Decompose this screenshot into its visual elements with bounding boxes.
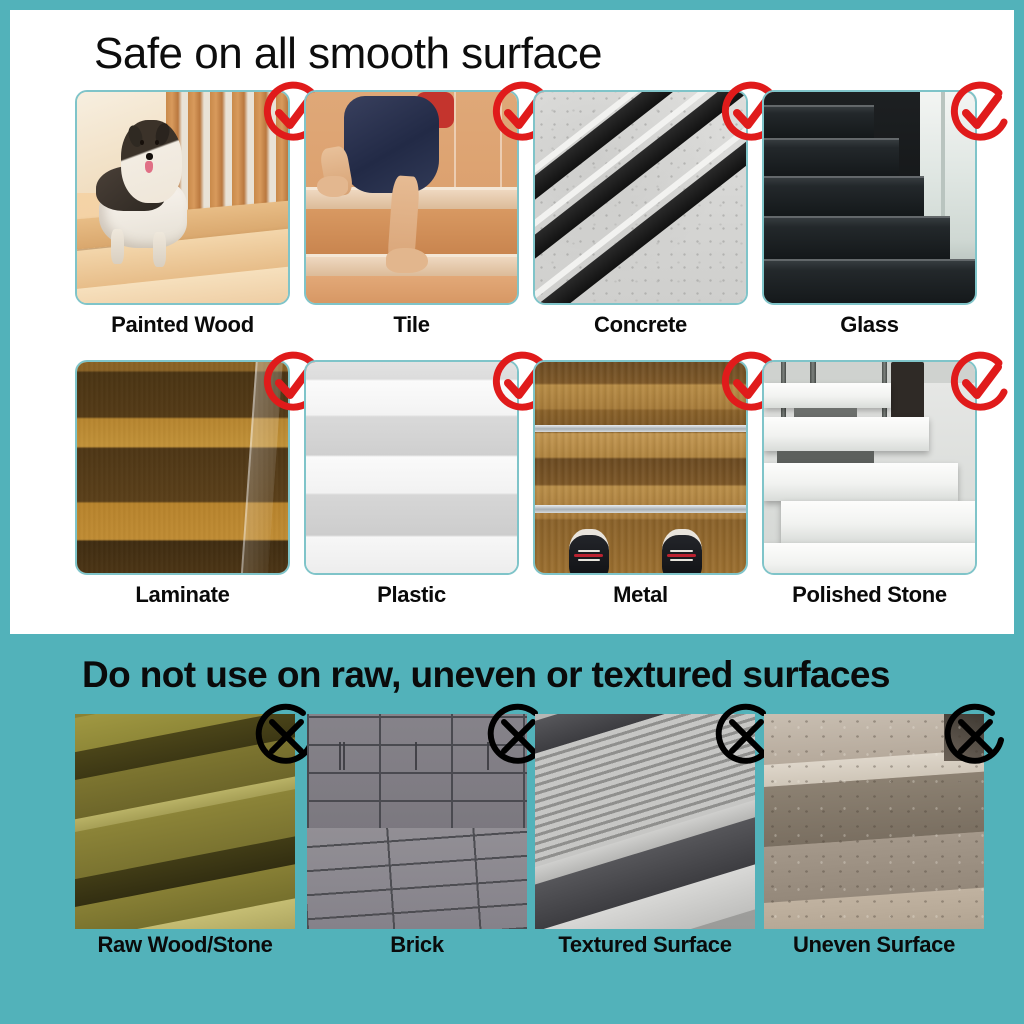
white-marble-stairs-photo	[762, 360, 977, 575]
grey-brick-wall-photo	[307, 714, 527, 929]
surface-label: Concrete	[533, 312, 748, 338]
surface-card-brick: Brick	[307, 714, 531, 964]
safe-section-heading: Safe on all smooth surface	[94, 26, 602, 82]
surface-card-laminate: Laminate	[75, 360, 299, 610]
safe-surfaces-panel: Safe on all smooth surface	[10, 10, 1014, 634]
surface-label: Textured Surface	[535, 932, 755, 958]
surface-label: Metal	[533, 582, 748, 608]
surface-card-raw-wood-stone: Raw Wood/Stone	[75, 714, 299, 964]
raw-olive-wood-planks-photo	[75, 714, 295, 929]
surface-card-textured-surface: Textured Surface	[535, 714, 759, 964]
surface-label: Plastic	[304, 582, 519, 608]
surface-label: Brick	[307, 932, 527, 958]
laminate-wood-planks-photo	[75, 360, 290, 575]
surface-label: Painted Wood	[75, 312, 290, 338]
avoid-surfaces-panel: Do not use on raw, uneven or textured su…	[0, 636, 1024, 1024]
surface-card-glass: Glass	[762, 90, 986, 340]
surface-label: Tile	[304, 312, 519, 338]
surface-card-plastic: Plastic	[304, 360, 528, 610]
surface-card-metal: Metal	[533, 360, 757, 610]
dark-glass-stairs-photo	[762, 90, 977, 305]
surface-label: Polished Stone	[762, 582, 977, 608]
surface-card-polished-stone: Polished Stone	[762, 360, 986, 610]
surface-label: Laminate	[75, 582, 290, 608]
surface-card-painted-wood: Painted Wood	[75, 90, 299, 340]
surface-card-tile: Tile	[304, 90, 528, 340]
surface-label: Glass	[762, 312, 977, 338]
surface-card-uneven-surface: Uneven Surface	[764, 714, 988, 964]
dog-on-wooden-stairs-photo	[75, 90, 290, 305]
grooved-stone-step-photo	[535, 714, 755, 929]
avoid-section-heading: Do not use on raw, uneven or textured su…	[82, 652, 890, 698]
concrete-stairs-with-strips-photo	[533, 90, 748, 305]
surface-label: Uneven Surface	[764, 932, 984, 958]
infographic-page: Safe on all smooth surface	[0, 0, 1024, 1024]
child-on-tile-stairs-photo	[304, 90, 519, 305]
white-plastic-steps-photo	[304, 360, 519, 575]
metal-nosing-stairs-with-shoes-photo	[533, 360, 748, 575]
surface-label: Raw Wood/Stone	[75, 932, 295, 958]
weathered-concrete-steps-photo	[764, 714, 984, 929]
surface-card-concrete: Concrete	[533, 90, 757, 340]
